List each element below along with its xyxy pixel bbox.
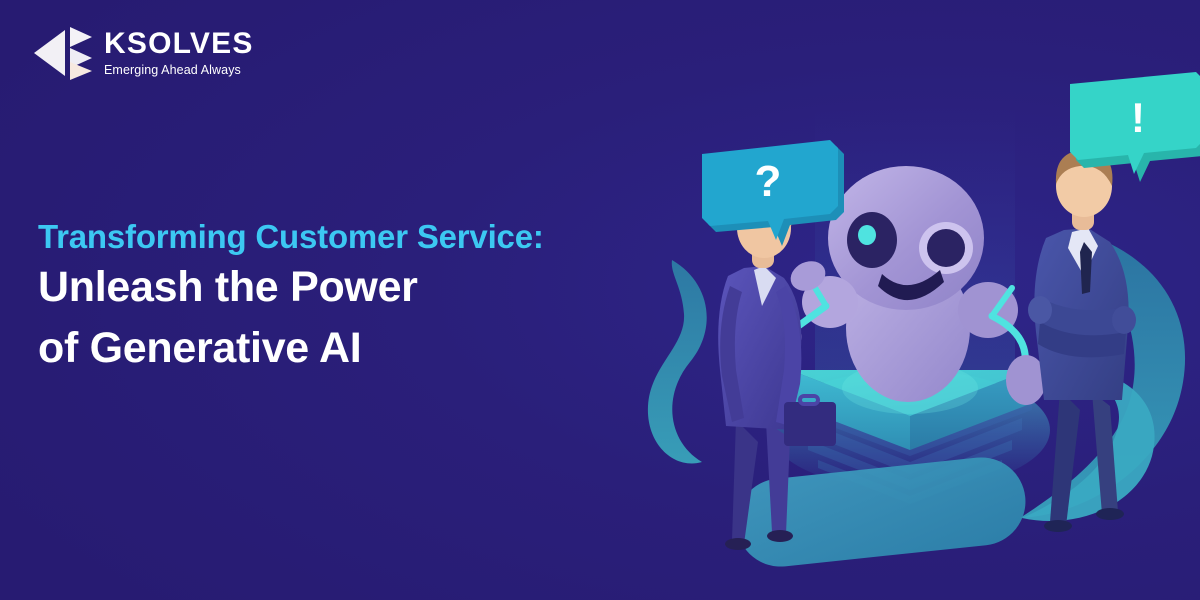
ksolves-k-mark-icon [32,24,94,82]
question-mark-glyph: ? [755,157,782,206]
exclamation-mark-glyph: ! [1131,94,1145,141]
brand-name: KSOLVES [104,29,254,59]
headline-accent-line: Transforming Customer Service: [38,218,544,257]
promo-banner: KSOLVES Emerging Ahead Always Transformi… [0,0,1200,600]
hero-illustration: ? ! [640,70,1200,600]
ksolves-logo[interactable]: KSOLVES Emerging Ahead Always [32,24,254,82]
headline-line-2: of Generative AI [38,318,544,379]
headline-line-1: Unleash the Power [38,257,544,318]
decorative-ribbon-left [648,260,707,463]
exclamation-speech-bubble: ! [1070,72,1200,182]
brand-tagline: Emerging Ahead Always [104,64,254,77]
headline-block: Transforming Customer Service: Unleash t… [38,218,544,379]
